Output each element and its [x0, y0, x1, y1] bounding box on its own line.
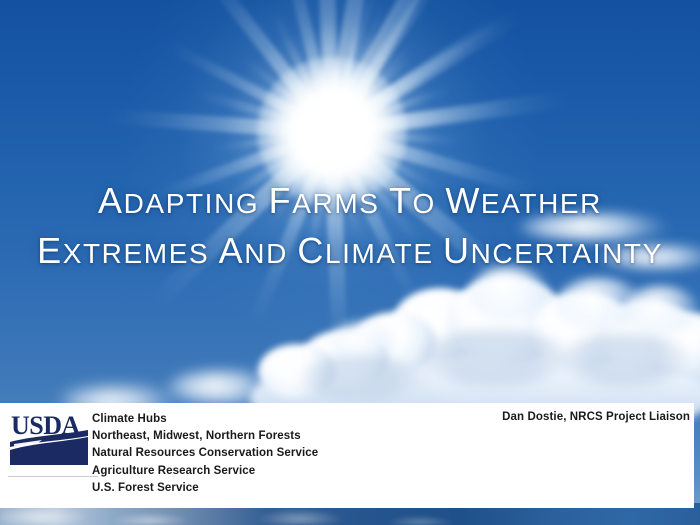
title-small-caps: ARMS: [292, 188, 379, 219]
title-small-caps: NCERTAINTY: [471, 238, 663, 269]
organization-line: Natural Resources Conservation Service: [92, 445, 318, 462]
usda-logo: USDA: [8, 409, 90, 473]
title-small-caps: XTREMES: [63, 238, 210, 269]
footer-panel: USDA Climate HubsNortheast, Midwest, Nor…: [0, 403, 694, 508]
title-cap-letter: T: [389, 180, 413, 221]
title-cap-letter: E: [37, 230, 63, 271]
title-cap-letter: F: [269, 180, 293, 221]
title-small-caps: ND: [244, 238, 288, 269]
logo-divider-rule: [8, 476, 98, 477]
organization-line: U.S. Forest Service: [92, 480, 318, 497]
slide-title-line-1: ADAPTING FARMS TO WEATHER: [0, 183, 700, 219]
title-small-caps: EATHER: [481, 188, 602, 219]
title-cap-letter: A: [219, 230, 245, 271]
title-cap-letter: C: [297, 230, 325, 271]
presenter-credit: Dan Dostie, NRCS Project Liaison: [502, 411, 690, 423]
title-small-caps: LIMATE: [325, 238, 434, 269]
organization-list: Climate HubsNortheast, Midwest, Northern…: [92, 411, 318, 497]
organization-line: Climate Hubs: [92, 411, 318, 428]
title-small-caps: DAPTING: [124, 188, 260, 219]
title-cap-letter: W: [445, 180, 481, 221]
title-cap-letter: U: [443, 230, 471, 271]
slide-title: ADAPTING FARMS TO WEATHER EXTREMES AND C…: [0, 183, 700, 269]
title-small-caps: O: [413, 188, 436, 219]
slide-title-line-2: EXTREMES AND CLIMATE UNCERTAINTY: [0, 233, 700, 269]
presentation-slide: ADAPTING FARMS TO WEATHER EXTREMES AND C…: [0, 0, 700, 525]
usda-logo-graphic: USDA: [8, 409, 90, 473]
title-cap-letter: A: [98, 180, 124, 221]
organization-line: Agriculture Research Service: [92, 463, 318, 480]
organization-line: Northeast, Midwest, Northern Forests: [92, 428, 318, 445]
